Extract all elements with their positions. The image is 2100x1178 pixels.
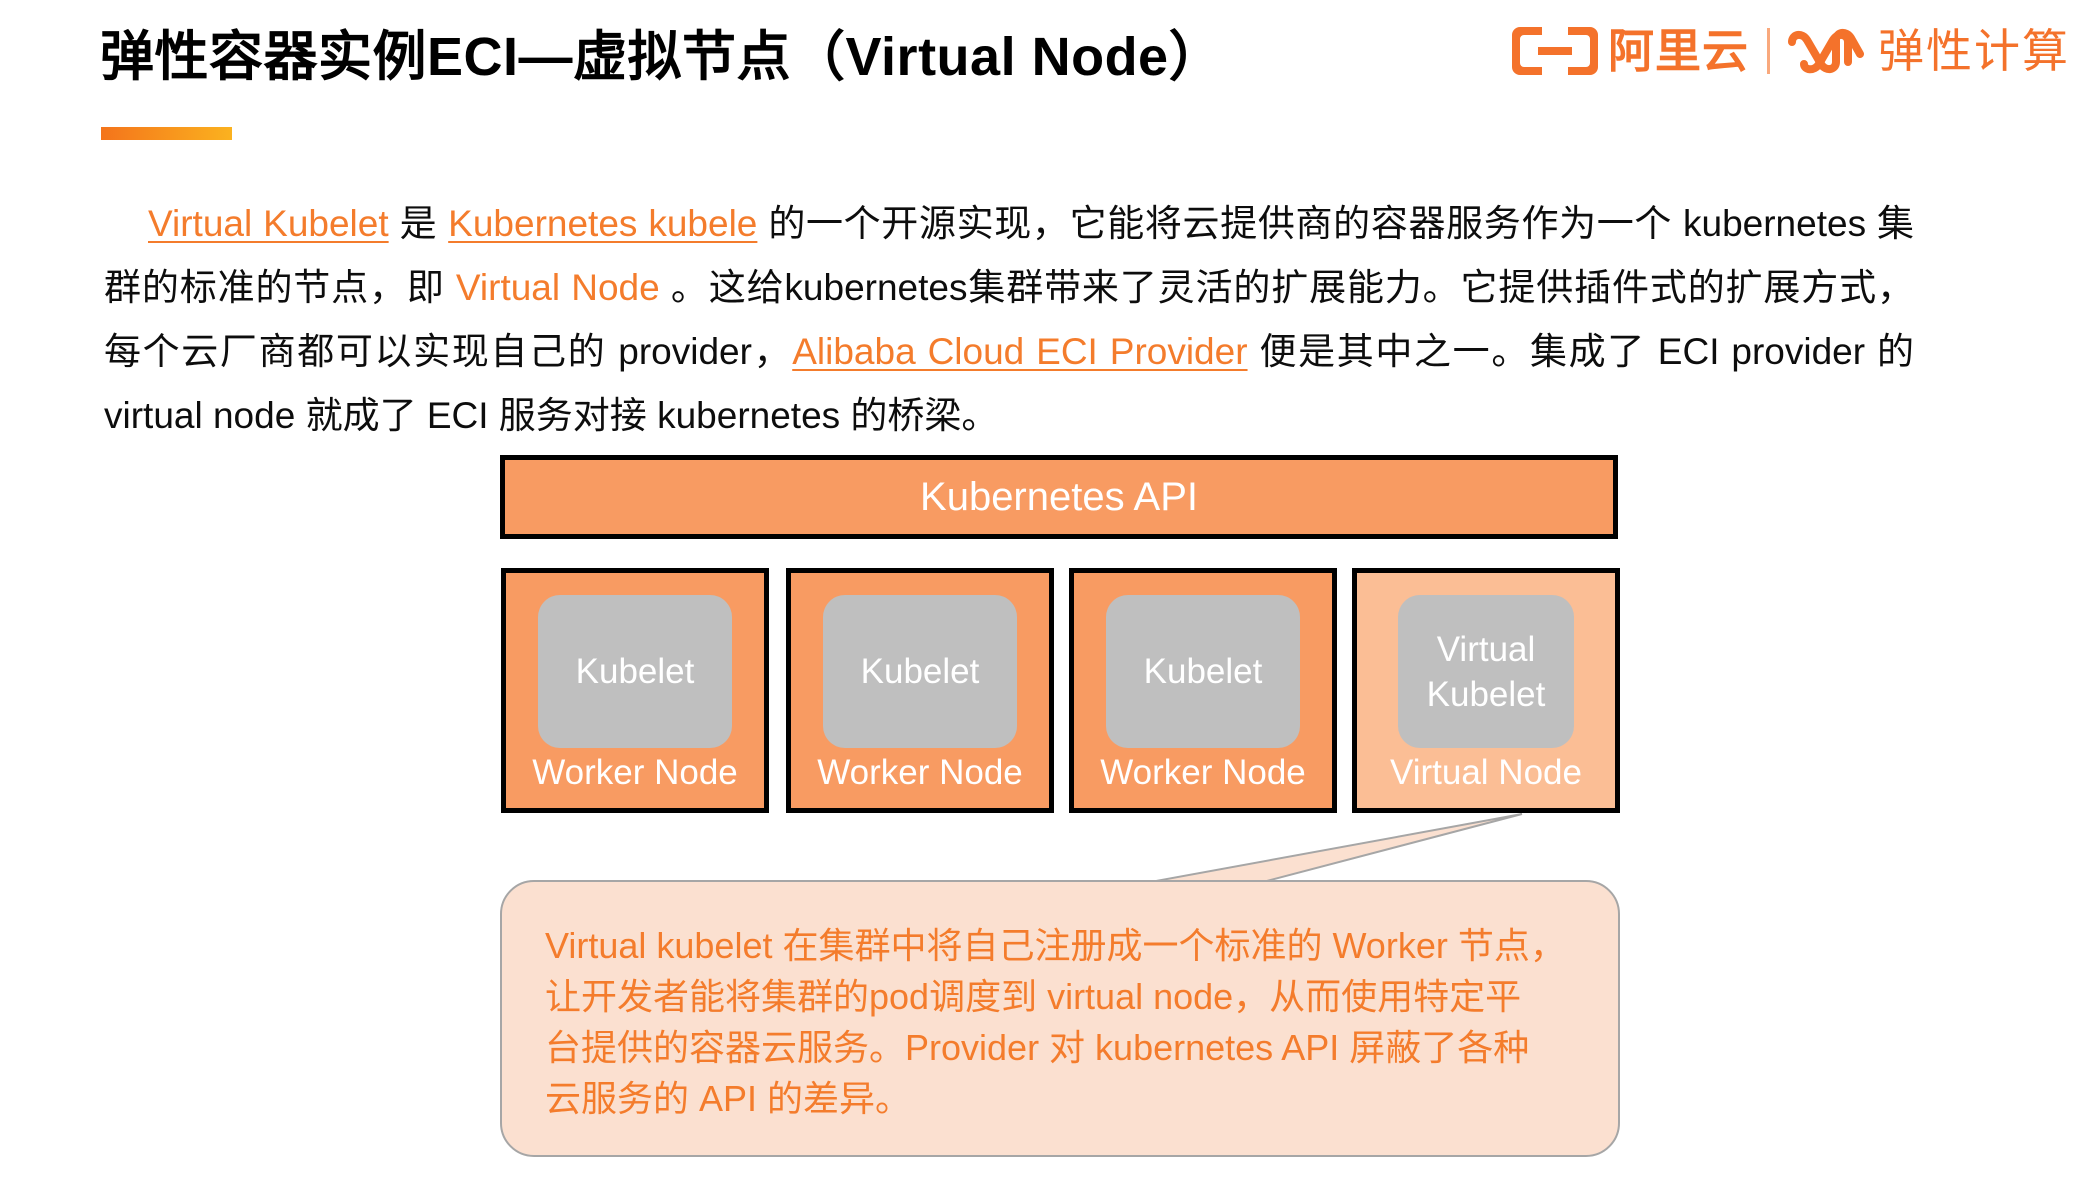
page-title: 弹性容器实例ECI—虚拟节点（Virtual Node） [100, 26, 1223, 88]
worker-node-box-3: Kubelet Worker Node [1069, 568, 1337, 813]
brand-name: 阿里云 [1608, 28, 1749, 74]
callout-line-2: 让开发者能将集群的pod调度到 virtual node，从而使用特定平 [545, 971, 1585, 1022]
virtual-node-box: Virtual Kubelet Virtual Node [1352, 568, 1620, 813]
kubelet-chip-1: Kubelet [538, 595, 732, 748]
callout-line-3: 台提供的容器云服务。Provider 对 kubernetes API 屏蔽了各… [545, 1022, 1585, 1073]
link-virtual-kubelet[interactable]: Virtual Kubelet [148, 203, 389, 244]
title-accent-rule [101, 127, 232, 140]
body-paragraph: Virtual Kubelet 是 Kubernetes kubele 的一个开… [104, 192, 1914, 448]
callout-line-1: Virtual kubelet 在集群中将自己注册成一个标准的 Worker 节… [545, 920, 1585, 971]
kubernetes-api-label: Kubernetes API [920, 477, 1198, 517]
worker-node-box-1: Kubelet Worker Node [501, 568, 769, 813]
callout-text: Virtual kubelet 在集群中将自己注册成一个标准的 Worker 节… [545, 920, 1585, 1124]
link-alibaba-cloud-eci-provider[interactable]: Alibaba Cloud ECI Provider [792, 331, 1247, 372]
worker-node-label-3: Worker Node [1100, 754, 1306, 793]
worker-node-label-1: Worker Node [532, 754, 738, 793]
virtual-kubelet-chip: Virtual Kubelet [1398, 595, 1574, 748]
kubernetes-api-bar: Kubernetes API [500, 455, 1618, 539]
virtual-kubelet-chip-line-1: Virtual [1437, 627, 1536, 672]
elastic-compute-wave-icon [1788, 28, 1864, 74]
kubelet-chip-label-1: Kubelet [576, 649, 695, 694]
kubelet-chip-2: Kubelet [823, 595, 1017, 748]
worker-node-label-2: Worker Node [817, 754, 1023, 793]
virtual-kubelet-chip-line-2: Kubelet [1427, 672, 1546, 717]
alibaba-cloud-bracket-icon [1512, 25, 1598, 77]
brand-product-name: 弹性计算 [1878, 28, 2070, 74]
kubelet-chip-label-2: Kubelet [861, 649, 980, 694]
virtual-node-label: Virtual Node [1390, 754, 1582, 793]
kubelet-chip-3: Kubelet [1106, 595, 1300, 748]
kubelet-chip-label-3: Kubelet [1144, 649, 1263, 694]
slide-canvas: 弹性容器实例ECI—虚拟节点（Virtual Node） 阿里云 弹性计算 Vi… [0, 0, 2100, 1178]
link-kubernetes-kubelet[interactable]: Kubernetes kubele [448, 203, 757, 244]
body-text-1: 是 [389, 203, 449, 244]
highlight-virtual-node: Virtual Node [456, 267, 660, 308]
brand-logo: 阿里云 弹性计算 [1512, 18, 2070, 84]
callout-line-4: 云服务的 API 的差异。 [545, 1073, 1585, 1124]
worker-node-box-2: Kubelet Worker Node [786, 568, 1054, 813]
brand-separator [1767, 28, 1770, 74]
